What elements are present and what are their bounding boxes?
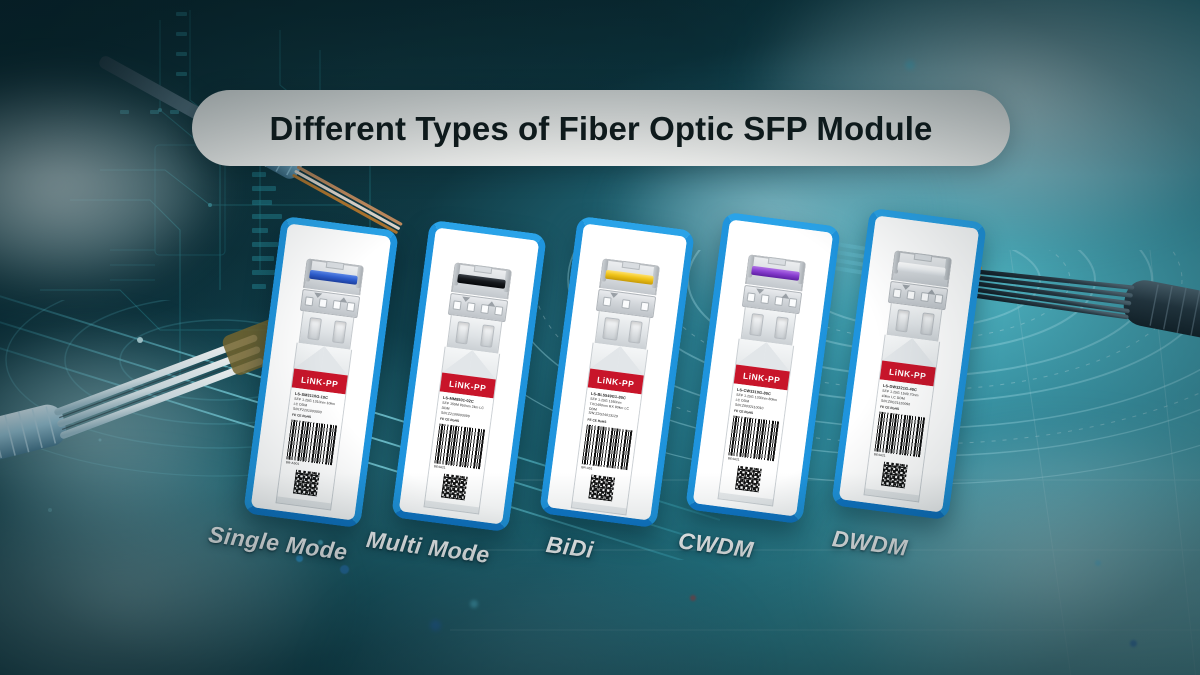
vignette-overlay [0, 0, 1200, 675]
poster-canvas: Different Types of Fiber Optic SFP Modul… [0, 0, 1200, 675]
